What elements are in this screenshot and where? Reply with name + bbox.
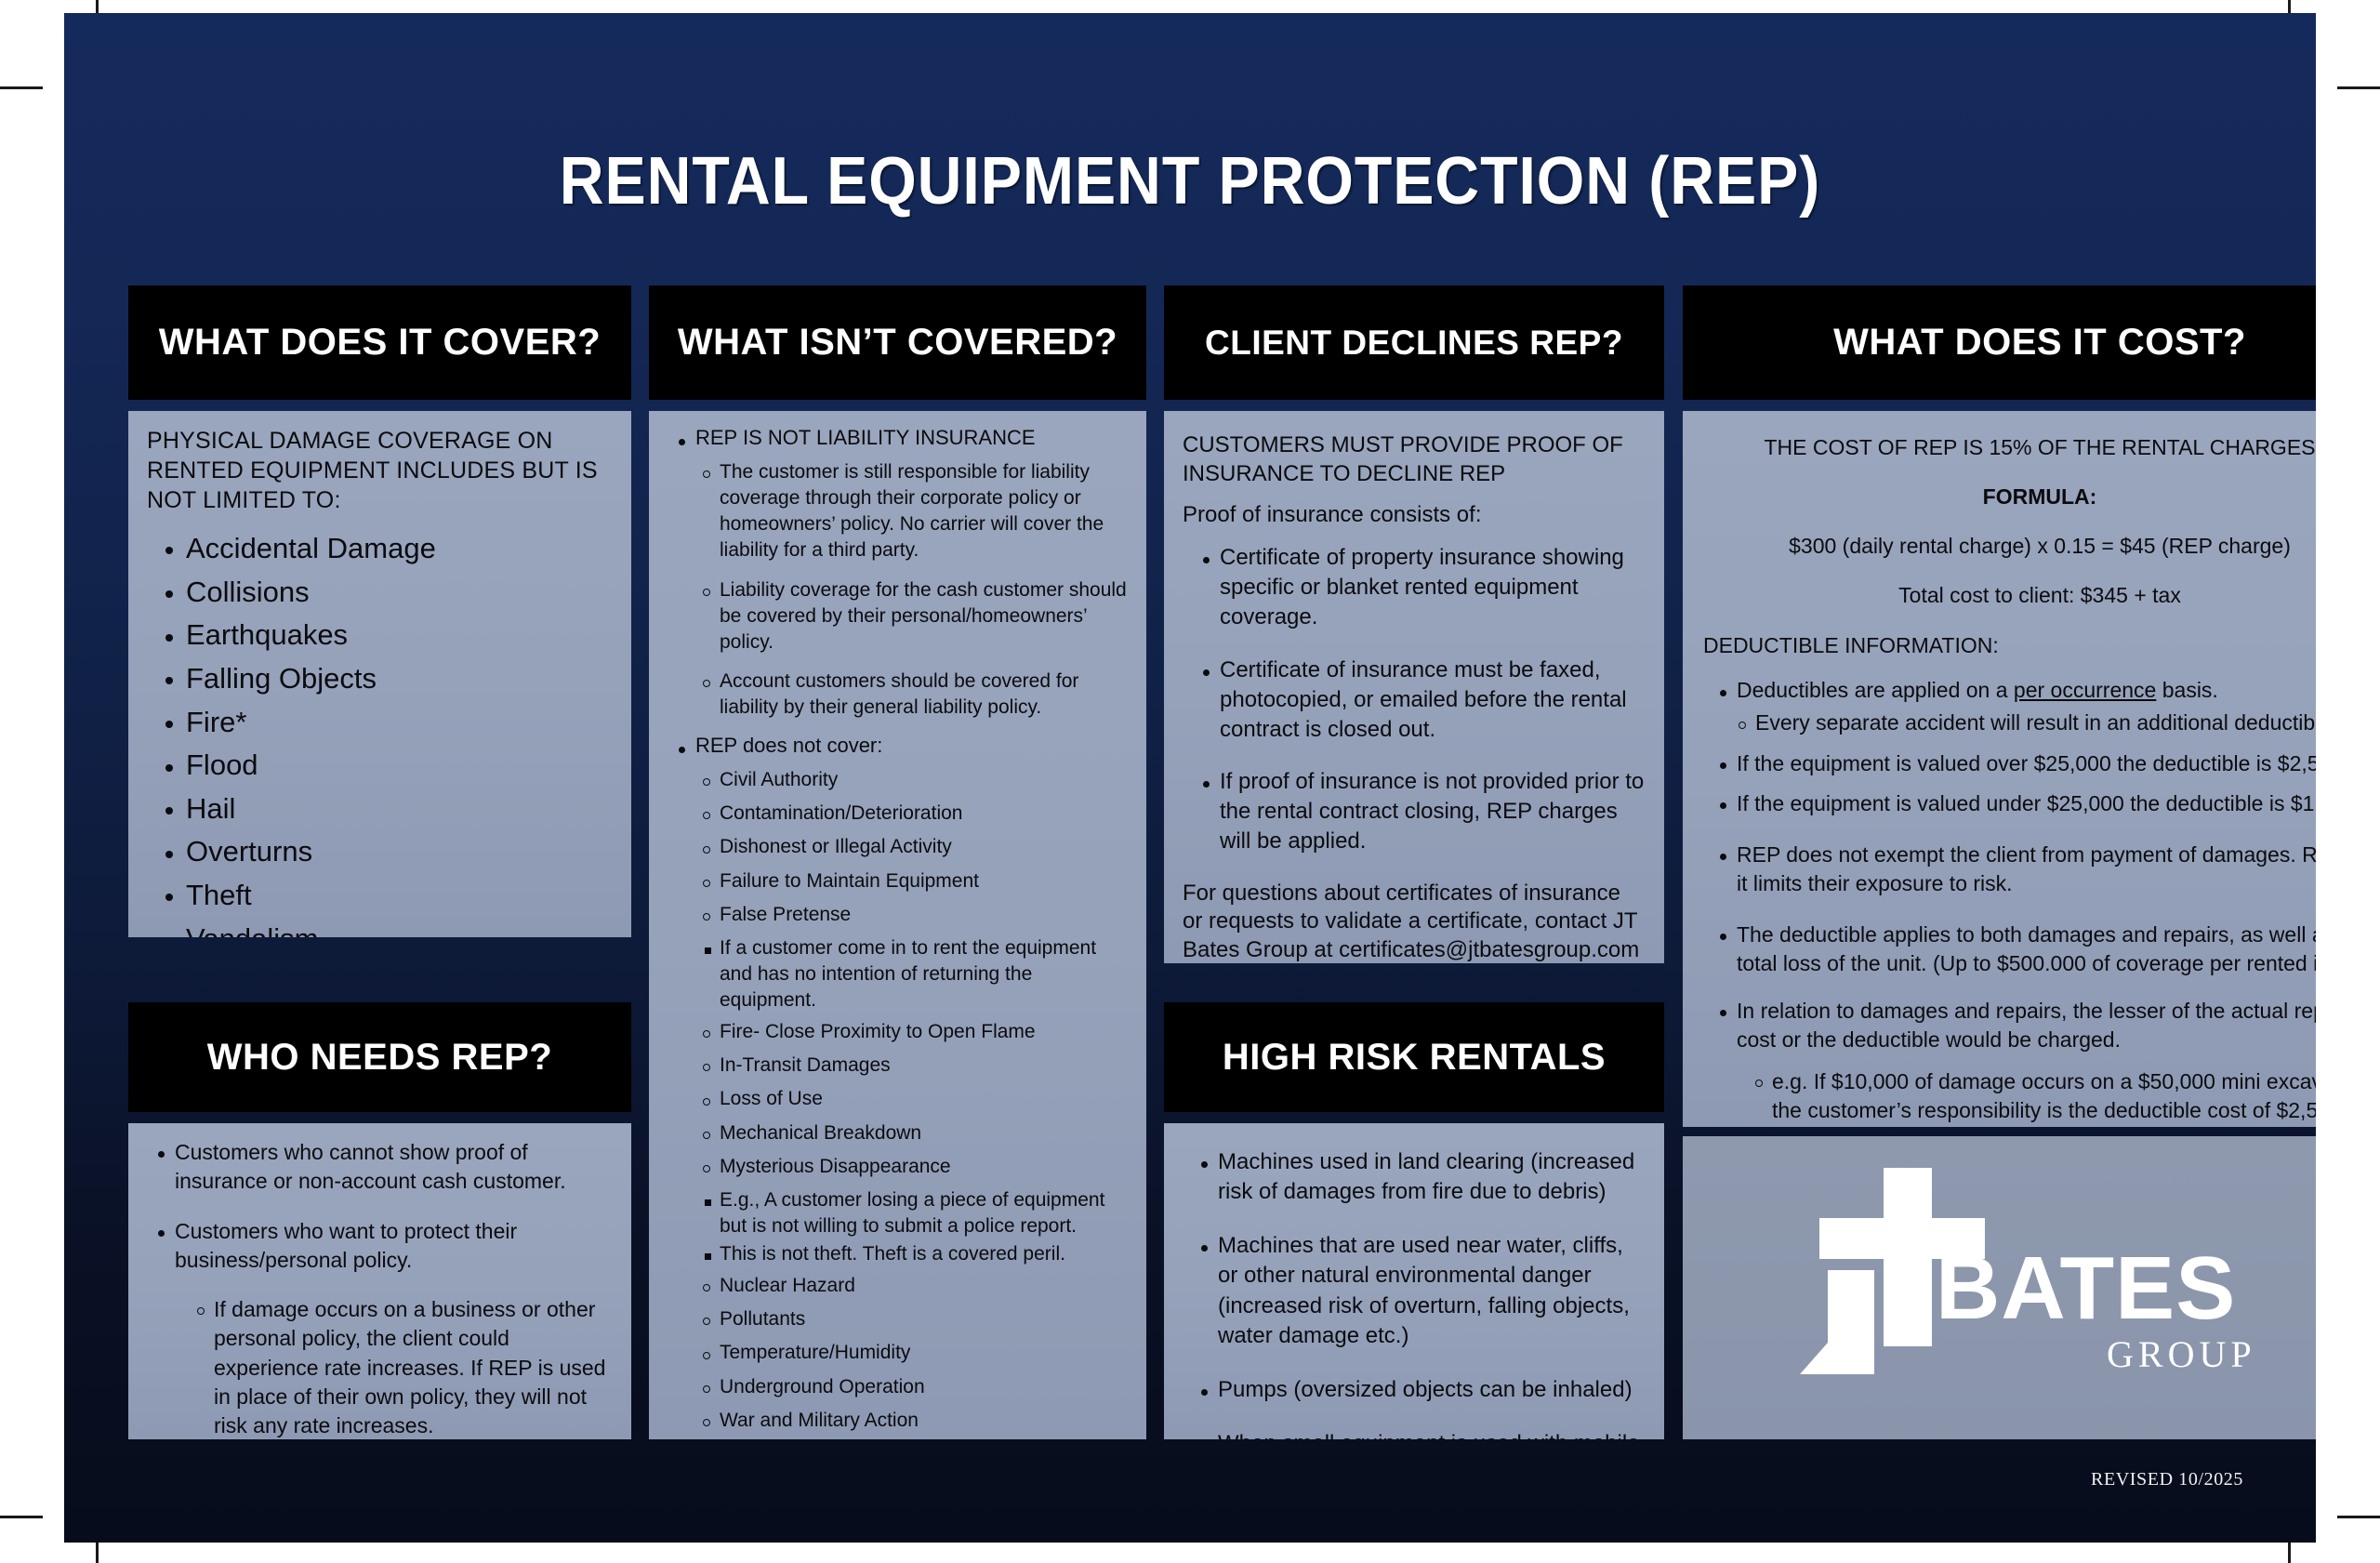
list-item: REP does not cover: (668, 734, 1128, 758)
mysterious-notes-list: E.g., A customer losing a piece of equip… (694, 1187, 1128, 1267)
list-item: The customer is still responsible for li… (692, 459, 1128, 564)
list-item: Every separate accident will result in a… (1727, 709, 2316, 737)
list-item: Nuclear Hazard (692, 1273, 1128, 1299)
panel-logo: BATES GROUP (1683, 1136, 2316, 1439)
panel-high-risk-rentals: Machines used in land clearing (increase… (1164, 1123, 1664, 1439)
list-item: If the equipment is valued under $25,000… (1709, 789, 2316, 818)
list-item: The deductible applies to both damages a… (1709, 921, 2316, 978)
not-cover-header-list: REP does not cover: (668, 734, 1128, 758)
crop-mark-bottom-left-h (0, 1516, 43, 1518)
logo-bates-text: BATES (1936, 1238, 2236, 1338)
false-pretense-note-list: If a customer come in to rent the equipm… (694, 935, 1128, 1013)
list-item: Temperature/Humidity (692, 1340, 1128, 1366)
section-header-high-risk-rentals: HIGH RISK RENTALS (1164, 1002, 1664, 1112)
list-item: Civil Authority (692, 767, 1128, 793)
list-item: In relation to damages and repairs, the … (1709, 997, 2316, 1054)
cost-total: Total cost to client: $345 + tax (1703, 583, 2316, 608)
logo-group-text: GROUP (2107, 1333, 2256, 1375)
list-item: Customers who want to protect their busi… (147, 1217, 613, 1276)
list-item: Machines that are used near water, cliff… (1190, 1231, 1646, 1351)
list-item: This is not theft. Theft is a covered pe… (694, 1241, 1128, 1267)
section-header-who-needs-rep: WHO NEEDS REP? (128, 1002, 631, 1112)
list-item: Overturns (147, 831, 613, 873)
section-header-what-isnt-covered: WHAT ISN’T COVERED? (649, 285, 1146, 400)
list-item: Loss of Use (692, 1086, 1128, 1112)
list-item: Certificate of property insurance showin… (1192, 543, 1646, 632)
panel-what-isnt-covered: REP IS NOT LIABILITY INSURANCE The custo… (649, 411, 1146, 1439)
list-item: Falling Objects (147, 658, 613, 700)
list-item: Contamination/Deterioration (692, 801, 1128, 827)
declines-lead-text: CUSTOMERS MUST PROVIDE PROOF OF INSURANC… (1183, 431, 1646, 488)
deductible-header: DEDUCTIBLE INFORMATION: (1703, 632, 2316, 659)
list-item: When small equipment is used with mobile… (1190, 1429, 1646, 1439)
list-item: If a customer come in to rent the equipm… (694, 935, 1128, 1013)
crop-mark-top-left-h (0, 86, 43, 89)
list-item: Earthquakes (147, 615, 613, 656)
panel-who-needs-rep: Customers who cannot show proof of insur… (128, 1123, 631, 1439)
list-item: Fire* (147, 702, 613, 744)
list-item: Deductibles are applied on a per occurre… (1709, 676, 2316, 705)
list-item: Account customers should be covered for … (692, 669, 1128, 721)
jt-bates-logo: BATES GROUP (1683, 1160, 2316, 1393)
list-item: E.g., A customer losing a piece of equip… (694, 1187, 1128, 1239)
revised-date: REVISED 10/2025 (2091, 1469, 2243, 1490)
list-item: If the equipment is valued over $25,000 … (1709, 749, 2316, 778)
list-item: War and Military Action (692, 1408, 1128, 1434)
cover-items-list: Accidental Damage Collisions Earthquakes… (147, 528, 613, 937)
list-item: If proof of insurance is not provided pr… (1192, 767, 1646, 856)
poster-canvas: RENTAL EQUIPMENT PROTECTION (REP) WHAT D… (64, 13, 2316, 1543)
list-item: Liability coverage for the cash customer… (692, 577, 1128, 656)
declines-items-list: Certificate of property insurance showin… (1192, 543, 1646, 856)
list-item: Pumps (oversized objects can be inhaled) (1190, 1375, 1646, 1405)
list-item: False Pretense (692, 902, 1128, 928)
list-item: Theft (147, 875, 613, 917)
list-item: Failure to Maintain Equipment (692, 868, 1128, 894)
crop-mark-top-right-h (2337, 86, 2380, 89)
panel-what-does-it-cost: THE COST OF REP IS 15% OF THE RENTAL CHA… (1683, 411, 2316, 1127)
list-item: e.g. If $10,000 of damage occurs on a $5… (1744, 1067, 2316, 1127)
cost-rate-line: THE COST OF REP IS 15% OF THE RENTAL CHA… (1703, 435, 2316, 460)
deductible-bullets-list: If the equipment is valued over $25,000 … (1709, 749, 2316, 1054)
deductible-lead-b: basis. (2156, 678, 2217, 702)
cost-formula-label: FORMULA: (1703, 484, 2316, 510)
deductible-lead-a: Deductibles are applied on a (1737, 678, 2014, 702)
list-item: Fire- Close Proximity to Open Flame (692, 1019, 1128, 1045)
list-item: Customers who cannot show proof of insur… (147, 1138, 613, 1197)
deductible-lead-list: Deductibles are applied on a per occurre… (1709, 676, 2316, 705)
liability-header-list: REP IS NOT LIABILITY INSURANCE (668, 426, 1128, 450)
list-item: If damage occurs on a business or other … (186, 1295, 613, 1439)
list-item: Flood (147, 745, 613, 787)
list-item: Dishonest or Illegal Activity (692, 834, 1128, 860)
panel-client-declines-rep: CUSTOMERS MUST PROVIDE PROOF OF INSURANC… (1164, 411, 1664, 963)
list-item: REP does not exempt the client from paym… (1709, 841, 2316, 898)
list-item: Vandalism (147, 919, 613, 937)
list-item: REP IS NOT LIABILITY INSURANCE (668, 426, 1128, 450)
deductible-sub-list: Every separate accident will result in a… (1727, 709, 2316, 737)
panel-what-does-it-cover: PHYSICAL DAMAGE COVERAGE ON RENTED EQUIP… (128, 411, 631, 937)
section-header-client-declines-rep: CLIENT DECLINES REP? (1164, 285, 1664, 400)
cost-formula: $300 (daily rental charge) x 0.15 = $45 … (1703, 534, 2316, 559)
section-header-what-does-it-cover: WHAT DOES IT COVER? (128, 285, 631, 400)
declines-subhead: Proof of insurance consists of: (1183, 501, 1646, 530)
section-header-what-does-it-cost: WHAT DOES IT COST? (1683, 285, 2316, 400)
list-item: Collisions (147, 572, 613, 614)
exclusions-list-c: Nuclear Hazard Pollutants Temperature/Hu… (692, 1273, 1128, 1439)
list-item: Certificate of insurance must be faxed, … (1192, 656, 1646, 745)
list-item: Pollutants (692, 1306, 1128, 1332)
list-item: Hail (147, 788, 613, 830)
list-item: Machines used in land clearing (increase… (1190, 1147, 1646, 1207)
jt-bates-logo-icon: BATES GROUP (1683, 1160, 2316, 1393)
list-item: Accidental Damage (147, 528, 613, 570)
exclusions-list-a: Civil Authority Contamination/Deteriorat… (692, 767, 1128, 928)
crop-mark-bottom-right-h (2337, 1516, 2380, 1518)
high-risk-list: Machines used in land clearing (increase… (1190, 1147, 1646, 1439)
who-needs-list: Customers who cannot show proof of insur… (147, 1138, 613, 1275)
cover-lead-text: PHYSICAL DAMAGE COVERAGE ON RENTED EQUIP… (147, 426, 613, 515)
who-needs-nested-list: If damage occurs on a business or other … (186, 1295, 613, 1439)
liability-points-list: The customer is still responsible for li… (692, 459, 1128, 721)
list-item: Underground Operation (692, 1374, 1128, 1400)
page-title: RENTAL EQUIPMENT PROTECTION (REP) (154, 143, 2226, 219)
list-item: Mysterious Disappearance (692, 1154, 1128, 1180)
declines-contact-text: For questions about certificates of insu… (1183, 880, 1646, 963)
list-item: Mechanical Breakdown (692, 1120, 1128, 1146)
exclusions-list-b: Fire- Close Proximity to Open Flame In-T… (692, 1019, 1128, 1180)
per-occurrence-emphasis: per occurrence (2014, 678, 2156, 702)
deductible-example-list: e.g. If $10,000 of damage occurs on a $5… (1744, 1067, 2316, 1127)
list-item: In-Transit Damages (692, 1053, 1128, 1079)
